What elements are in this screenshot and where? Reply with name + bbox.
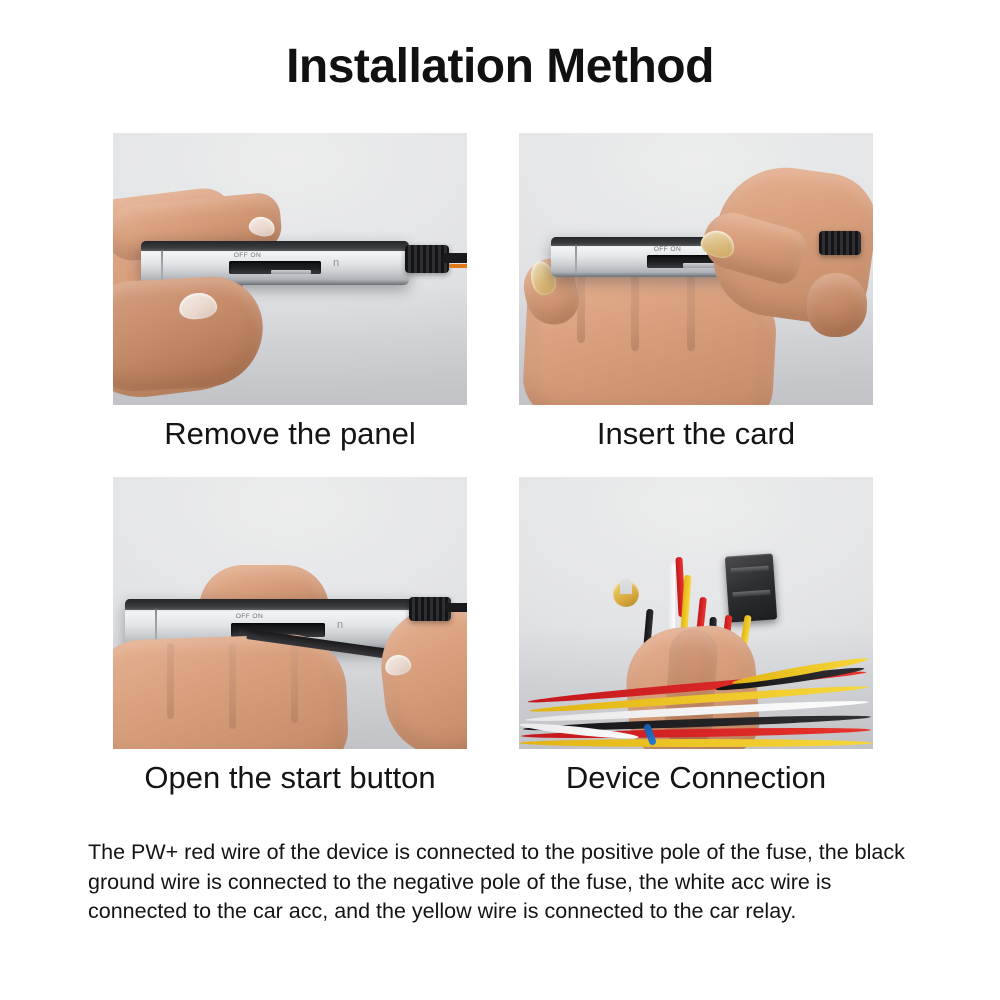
device-switch-label: OFF ON (234, 252, 261, 259)
connector-rib-bottom (732, 590, 771, 598)
device-icon-mark: n (337, 619, 342, 631)
hand-knuckle (807, 273, 867, 337)
black-fuse-connector (725, 553, 777, 622)
steps-grid: OFF ON n Remove the panel (113, 133, 887, 807)
step-insert-the-card: OFF ON Insert the card (519, 133, 873, 463)
step-3-photo: OFF ON n (113, 477, 467, 749)
installation-method-page: Installation Method OFF ON (0, 0, 1000, 1000)
connector-rib-top (730, 566, 769, 574)
cable (445, 603, 467, 612)
device-card-slot (229, 261, 321, 274)
step-open-the-start-button: OFF ON n Open the start button (113, 477, 467, 807)
page-title: Installation Method (0, 42, 1000, 92)
palm-finger-gap-2 (631, 273, 639, 351)
wiring-instructions-paragraph: The PW+ red wire of the device is connec… (88, 838, 916, 927)
step-4-photo (519, 477, 873, 749)
step-device-connection: Device Connection (519, 477, 873, 807)
step-remove-the-panel: OFF ON n Remove the panel (113, 133, 467, 463)
step-4-caption: Device Connection (519, 749, 873, 807)
step-1-photo: OFF ON n (113, 133, 467, 405)
cable (443, 253, 467, 263)
cable-strain-relief (819, 231, 861, 255)
step-2-caption: Insert the card (519, 405, 873, 463)
finger-crease-3 (291, 643, 298, 723)
finger-crease-1 (167, 643, 174, 719)
step-2-photo: OFF ON (519, 133, 873, 405)
palm-finger-gap-3 (687, 273, 695, 351)
finger-crease-2 (229, 643, 236, 729)
step-3-caption: Open the start button (113, 749, 467, 807)
step-1-caption: Remove the panel (113, 405, 467, 463)
device-top-bezel (141, 241, 409, 251)
coil-wire-yellow-2 (519, 739, 873, 747)
slot-card-edge (271, 270, 311, 274)
device-switch-label: OFF ON (654, 246, 681, 253)
device-switch-label: OFF ON (236, 613, 263, 620)
cable-accent-wire (449, 264, 467, 268)
gold-spade-terminal (613, 581, 639, 607)
device-top-bezel (125, 599, 415, 610)
device-seam-left (575, 245, 577, 275)
palm-finger-gap-1 (577, 273, 585, 343)
device-icon-mark: n (333, 257, 338, 269)
device-seam-left (161, 250, 163, 283)
